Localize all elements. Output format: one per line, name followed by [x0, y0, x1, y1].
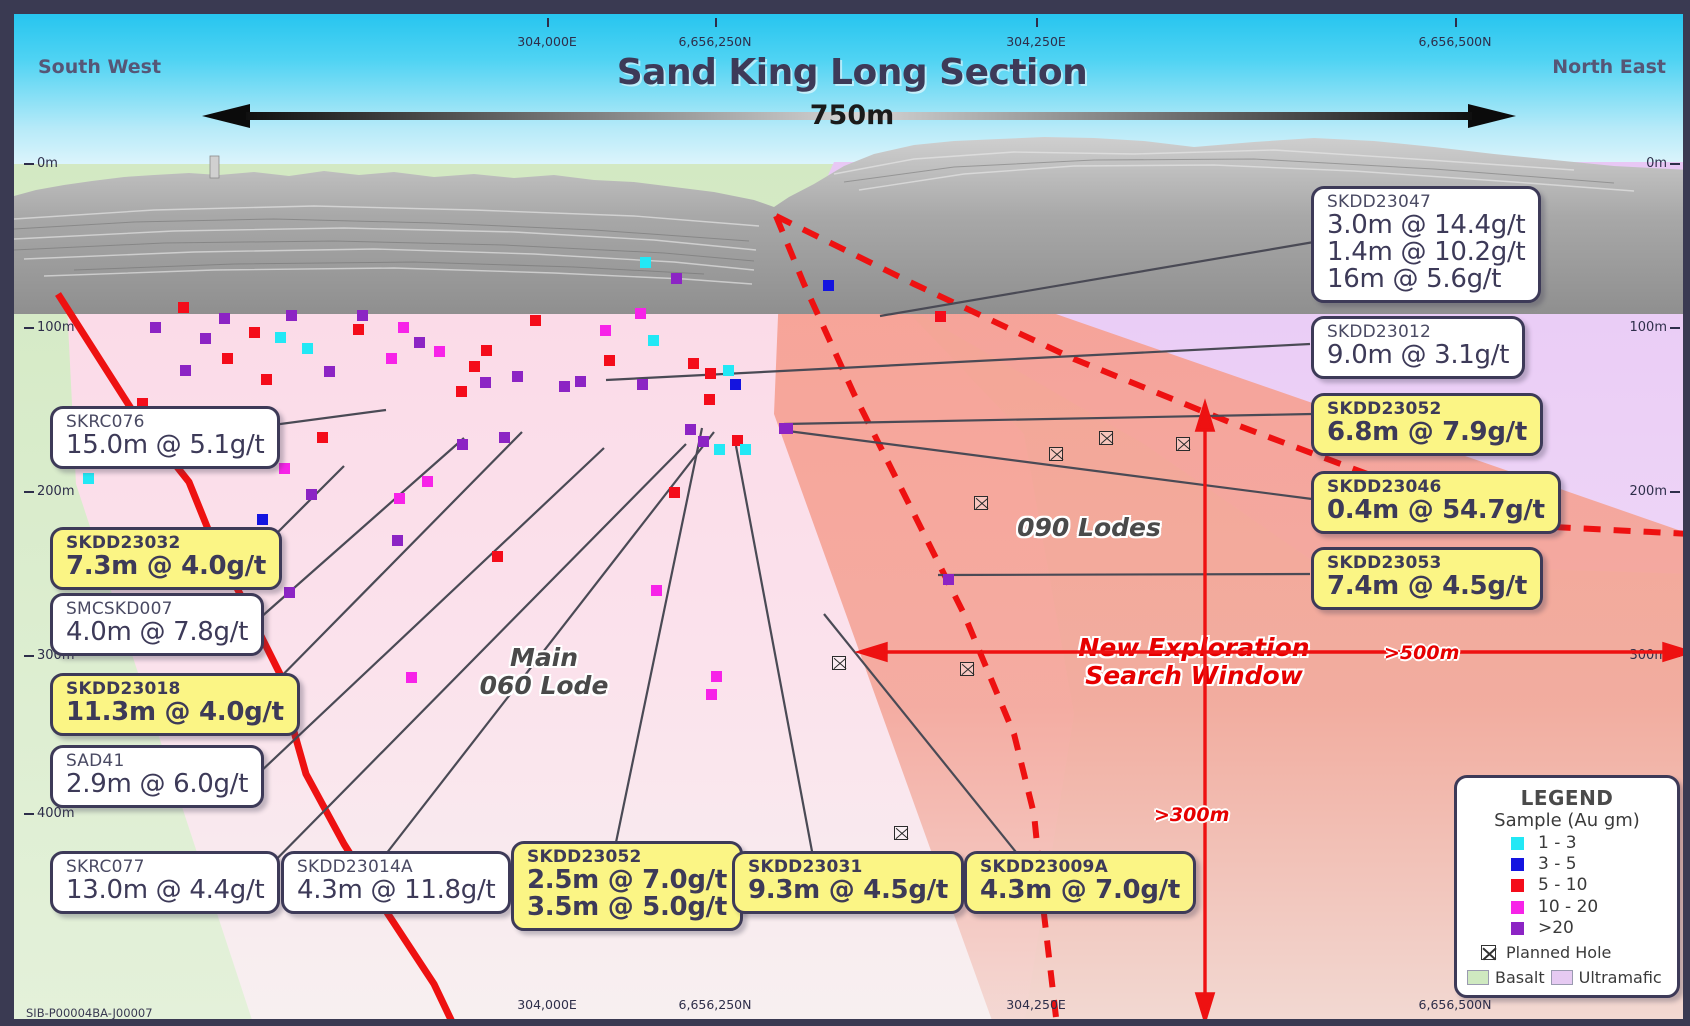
sample-point — [219, 313, 230, 324]
coord-bottom-3: 6,656,500N — [1419, 997, 1492, 1012]
sample-point — [637, 379, 648, 390]
callout-intercept: 0.4m @ 54.7g/t — [1327, 497, 1545, 524]
callout-SAD41[interactable]: SAD41 2.9m @ 6.0g/t — [50, 745, 264, 808]
ultramafic-swatch — [1551, 970, 1573, 985]
sample-point — [698, 436, 709, 447]
sample-point — [823, 280, 834, 291]
sample-point — [456, 386, 467, 397]
coord-tick-top — [1036, 18, 1038, 27]
sample-point — [604, 355, 615, 366]
sample-point — [730, 379, 741, 390]
sample-point — [286, 310, 297, 321]
sample-point — [284, 587, 295, 598]
sample-point — [261, 374, 272, 385]
coord-tick-top — [1455, 18, 1457, 27]
sample-point — [249, 327, 260, 338]
callout-SKDD23012[interactable]: SKDD23012 9.0m @ 3.1g/t — [1311, 316, 1525, 379]
sample-point — [457, 439, 468, 450]
coord-tick-top — [715, 18, 717, 27]
sample-swatch-icon — [1511, 858, 1524, 871]
depth-right-3: 300m — [1630, 648, 1680, 663]
callout-intercept: 4.3m @ 7.0g/t — [980, 877, 1180, 904]
sample-swatch-icon — [1511, 879, 1524, 892]
legend-planned-hole-label: Planned Hole — [1506, 943, 1611, 962]
callout-SKDD23046[interactable]: SKDD23046 0.4m @ 54.7g/t — [1311, 471, 1561, 534]
sample-point — [740, 444, 751, 455]
sample-point — [492, 551, 503, 562]
sample-point — [575, 376, 586, 387]
legend-sample-row: 3 - 5 — [1467, 854, 1667, 875]
coord-top-1: 6,656,250N — [679, 34, 752, 49]
planned-hole-marker — [832, 656, 846, 670]
coord-bottom-0: 304,000E — [517, 997, 577, 1012]
sample-point — [386, 353, 397, 364]
planned-hole-marker — [1099, 431, 1113, 445]
planned-hole-marker — [894, 826, 908, 840]
sample-point — [178, 302, 189, 313]
sample-point — [648, 335, 659, 346]
sample-point — [688, 358, 699, 369]
sample-point — [935, 311, 946, 322]
scale-bar-value: 750m — [800, 100, 905, 131]
legend-sample-list: 1 - 33 - 55 - 1010 - 20>20 — [1467, 833, 1667, 939]
callout-intercept: 2.9m @ 6.0g/t — [66, 771, 248, 798]
callout-intercept: 15.0m @ 5.1g/t — [66, 432, 264, 459]
sample-point — [275, 332, 286, 343]
depth-left-1: 100m — [24, 320, 74, 335]
legend-sample-label: 1 - 3 — [1538, 833, 1577, 854]
callout-SKDD23047[interactable]: SKDD23047 3.0m @ 14.4g/t 1.4m @ 10.2g/t … — [1311, 186, 1541, 303]
sample-point — [782, 423, 793, 434]
sample-point — [180, 365, 191, 376]
sample-point — [943, 574, 954, 585]
callout-SKDD23052-main[interactable]: SKDD23052 2.5m @ 7.0g/t 3.5m @ 5.0g/t — [511, 841, 743, 931]
sample-point — [669, 487, 680, 498]
long-section-figure: South West North East Sand King Long Sec… — [0, 0, 1690, 1026]
planned-hole-marker — [974, 496, 988, 510]
search-window-label: New Exploration Search Window — [1044, 634, 1344, 690]
sample-point — [640, 257, 651, 268]
sample-point — [222, 353, 233, 364]
legend-title: LEGEND — [1467, 786, 1667, 810]
callout-intercept: 11.3m @ 4.0g/t — [66, 699, 284, 726]
planned-hole-marker — [960, 662, 974, 676]
depth-left-2: 200m — [24, 484, 74, 499]
legend-sample-row: 10 - 20 — [1467, 897, 1667, 918]
legend-rock-label: Basalt — [1495, 968, 1545, 987]
dimension-horizontal-label: >500m — [1384, 642, 1459, 664]
callout-SKDD23052-east[interactable]: SKDD23052 6.8m @ 7.9g/t — [1311, 393, 1543, 456]
callout-intercept: 1.4m @ 10.2g/t — [1327, 239, 1525, 266]
sample-point — [317, 432, 328, 443]
section-canvas: South West North East Sand King Long Sec… — [14, 14, 1690, 1026]
sample-point — [714, 444, 725, 455]
callout-intercept: 6.8m @ 7.9g/t — [1327, 419, 1527, 446]
legend-rock-label: Ultramafic — [1579, 968, 1662, 987]
sample-point — [480, 377, 491, 388]
sample-point — [685, 424, 696, 435]
coord-bottom-2: 304,250E — [1006, 997, 1066, 1012]
callout-intercept: 7.4m @ 4.5g/t — [1327, 573, 1527, 600]
legend-sample-label: 5 - 10 — [1538, 875, 1587, 896]
callout-intercept: 7.3m @ 4.0g/t — [66, 553, 266, 580]
planned-hole-icon — [1481, 945, 1496, 960]
basalt-swatch — [1467, 970, 1489, 985]
dimension-vertical-label: >300m — [1154, 804, 1229, 826]
callout-intercept: 9.0m @ 3.1g/t — [1327, 342, 1509, 369]
sample-point — [257, 514, 268, 525]
legend-rock-list: Basalt Ultramafic — [1467, 968, 1667, 987]
callout-intercept: 13.0m @ 4.4g/t — [66, 877, 264, 904]
legend-rock-basalt: Basalt — [1467, 968, 1545, 987]
legend-subtitle: Sample (Au gm) — [1467, 810, 1667, 831]
depth-right-0: 0m — [1646, 156, 1680, 171]
callout-intercept: 4.0m @ 7.8g/t — [66, 619, 248, 646]
legend-sample-label: >20 — [1538, 918, 1574, 939]
callout-SKDD23018[interactable]: SKDD23018 11.3m @ 4.0g/t — [50, 673, 300, 736]
sample-point — [392, 535, 403, 546]
legend-sample-label: 10 - 20 — [1538, 897, 1598, 918]
sample-point — [306, 489, 317, 500]
sample-point — [512, 371, 523, 382]
callout-intercept: 9.3m @ 4.5g/t — [748, 877, 948, 904]
sample-point — [324, 366, 335, 377]
depth-left-0: 0m — [24, 156, 58, 171]
sample-swatch-icon — [1511, 901, 1524, 914]
depth-right-2: 200m — [1630, 484, 1680, 499]
sample-point — [150, 322, 161, 333]
legend-sample-row: 1 - 3 — [1467, 833, 1667, 854]
coord-top-3: 6,656,500N — [1419, 34, 1492, 49]
sample-swatch-icon — [1511, 922, 1524, 935]
sample-point — [394, 493, 405, 504]
sample-point — [499, 432, 510, 443]
callout-SKDD23032[interactable]: SKDD23032 7.3m @ 4.0g/t — [50, 527, 282, 590]
sample-point — [422, 476, 433, 487]
legend-planned-hole-row: Planned Hole — [1467, 943, 1667, 962]
lodes-090-label: 090 Lodes — [974, 514, 1204, 542]
sample-point — [530, 315, 541, 326]
coord-bottom-1: 6,656,250N — [679, 997, 752, 1012]
sample-point — [406, 672, 417, 683]
sample-point — [704, 394, 715, 405]
legend-panel: LEGEND Sample (Au gm) 1 - 33 - 55 - 1010… — [1454, 775, 1680, 998]
sample-point — [279, 463, 290, 474]
callout-SKDD23031[interactable]: SKDD23031 9.3m @ 4.5g/t — [732, 851, 964, 914]
sample-point — [469, 361, 480, 372]
callout-SKDD23009A[interactable]: SKDD23009A 4.3m @ 7.0g/t — [964, 851, 1196, 914]
depth-right-1: 100m — [1630, 320, 1680, 335]
sample-point — [559, 381, 570, 392]
callout-SKDD23053[interactable]: SKDD23053 7.4m @ 4.5g/t — [1311, 547, 1543, 610]
sample-point — [357, 310, 368, 321]
coord-tick-top — [547, 18, 549, 27]
callout-intercept: 2.5m @ 7.0g/t — [527, 867, 727, 894]
sample-point — [723, 365, 734, 376]
sample-point — [200, 333, 211, 344]
sample-point — [651, 585, 662, 596]
page-title: Sand King Long Section — [14, 52, 1690, 93]
sample-point — [414, 337, 425, 348]
sample-point — [635, 308, 646, 319]
sample-point — [600, 325, 611, 336]
callout-SKRC077[interactable]: SKRC077 13.0m @ 4.4g/t — [50, 851, 280, 914]
legend-sample-row: >20 — [1467, 918, 1667, 939]
sample-point — [83, 473, 94, 484]
callout-SKDD23014A[interactable]: SKDD23014A 4.3m @ 11.8g/t — [281, 851, 511, 914]
sample-point — [711, 671, 722, 682]
legend-rock-ultramafic: Ultramafic — [1551, 968, 1662, 987]
depth-left-4: 400m — [24, 806, 74, 821]
callout-intercept: 16m @ 5.6g/t — [1327, 266, 1525, 293]
figure-id-footer: SIB-P00004BA-J00007 — [26, 1006, 153, 1020]
callout-SMCSKD007[interactable]: SMCSKD007 4.0m @ 7.8g/t — [50, 593, 264, 656]
main-lode-label: Main 060 Lode — [444, 644, 644, 700]
callout-SKRC076[interactable]: SKRC076 15.0m @ 5.1g/t — [50, 406, 280, 469]
planned-hole-marker — [1176, 437, 1190, 451]
sample-point — [353, 324, 364, 335]
sample-point — [481, 345, 492, 356]
sample-point — [434, 346, 445, 357]
sample-point — [302, 343, 313, 354]
scale-bar-label: 750m — [14, 100, 1690, 131]
coord-top-2: 304,250E — [1006, 34, 1066, 49]
legend-sample-label: 3 - 5 — [1538, 854, 1577, 875]
callout-intercept: 3.5m @ 5.0g/t — [527, 894, 727, 921]
callout-intercept: 4.3m @ 11.8g/t — [297, 877, 495, 904]
legend-sample-row: 5 - 10 — [1467, 875, 1667, 896]
callout-intercept: 3.0m @ 14.4g/t — [1327, 212, 1525, 239]
coord-top-0: 304,000E — [517, 34, 577, 49]
sample-point — [398, 322, 409, 333]
planned-hole-marker — [1049, 447, 1063, 461]
sample-point — [705, 368, 716, 379]
sample-swatch-icon — [1511, 837, 1524, 850]
sample-point — [706, 689, 717, 700]
sample-point — [671, 273, 682, 284]
